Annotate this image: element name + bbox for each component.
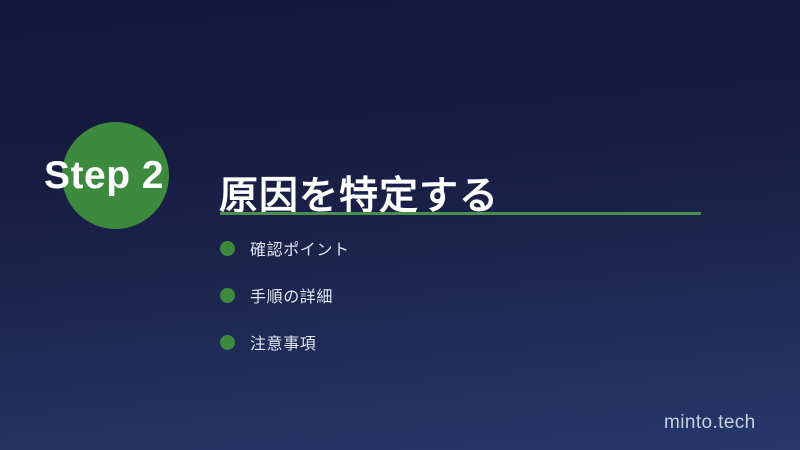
bullet-dot-icon [220,241,235,256]
step-number-label: Step 2 [44,152,214,200]
bullet-item-label: 注意事項 [250,330,316,354]
bullet-list: 確認ポイント 手順の詳細 注意事項 [220,233,690,374]
list-item: 確認ポイント [220,233,690,263]
bullet-dot-icon [220,335,235,350]
presentation-slide: Step 2 原因を特定する 確認ポイント 手順の詳細 注意事項 minto.t… [0,0,800,450]
bullet-item-label: 手順の詳細 [250,283,333,307]
list-item: 手順の詳細 [220,280,690,310]
footer-brand-label: minto.tech [664,412,756,434]
list-item: 注意事項 [220,327,690,357]
bullet-item-label: 確認ポイント [250,236,350,260]
bullet-dot-icon [220,288,235,303]
title-divider-rule [220,212,701,215]
